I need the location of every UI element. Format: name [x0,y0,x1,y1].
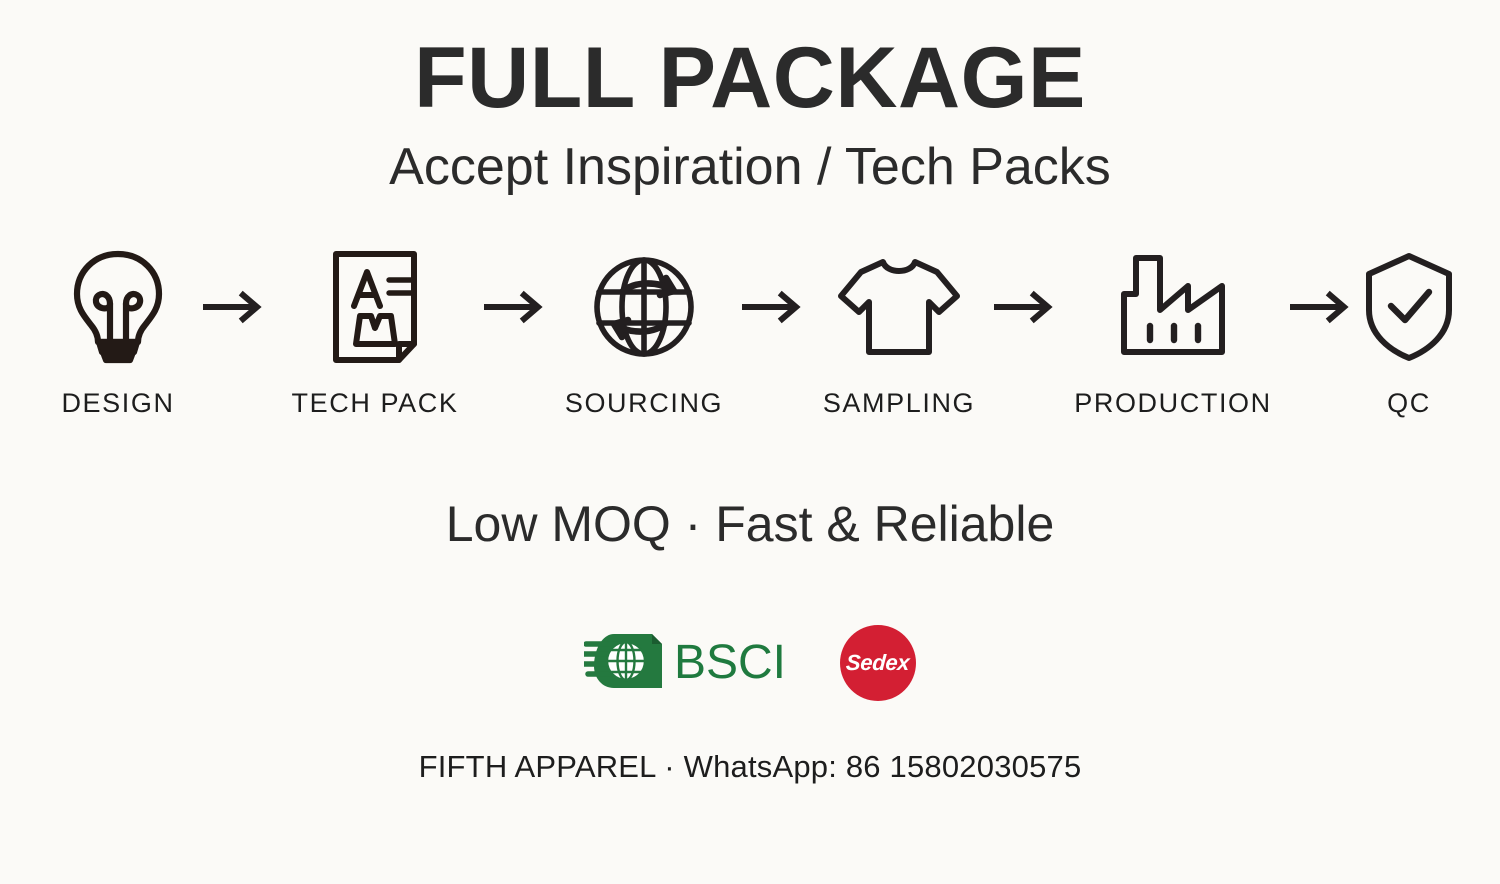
process-flow: DESIGN TECH PACK [90,248,1410,419]
footer-contact: FIFTH APPAREL · WhatsApp: 86 15802030575 [419,749,1082,785]
full-package-banner: FULL PACKAGE Accept Inspiration / Tech P… [0,0,1500,884]
process-step-label: QC [1387,388,1431,419]
process-step-label: SOURCING [565,388,723,419]
factory-icon [1114,248,1232,366]
arrow-right-icon-5 [1281,248,1361,366]
bsci-label: BSCI [674,639,786,687]
globe-sourcing-icon [586,248,702,366]
process-step-tech-pack: TECH PACK [275,248,475,419]
process-step-label: TECH PACK [292,388,459,419]
process-step-design: DESIGN [43,248,193,419]
arrow-right-icon-3 [733,248,813,366]
page-subtitle: Accept Inspiration / Tech Packs [389,139,1111,196]
process-step-qc: QC [1361,248,1457,419]
certification-bsci: BSCI [584,628,786,699]
certification-sedex: Sedex [840,625,916,701]
shield-check-icon [1359,248,1459,366]
arrow-right-icon-4 [985,248,1065,366]
process-step-label: DESIGN [61,388,174,419]
process-step-label: PRODUCTION [1074,388,1272,419]
tech-pack-document-icon [327,248,423,366]
process-step-sampling: SAMPLING [813,248,985,419]
lightbulb-icon [66,248,170,366]
bsci-hand-globe-icon [584,628,668,699]
arrow-right-icon-2 [475,248,555,366]
sedex-label: Sedex [846,652,911,674]
page-title: FULL PACKAGE [414,33,1086,123]
arrow-right-icon-1 [193,248,275,366]
process-step-sourcing: SOURCING [555,248,733,419]
process-step-label: SAMPLING [823,388,975,419]
certification-logos: BSCI Sedex [584,625,916,701]
tshirt-icon [835,248,963,366]
tagline: Low MOQ · Fast & Reliable [446,495,1055,553]
process-step-production: PRODUCTION [1065,248,1281,419]
